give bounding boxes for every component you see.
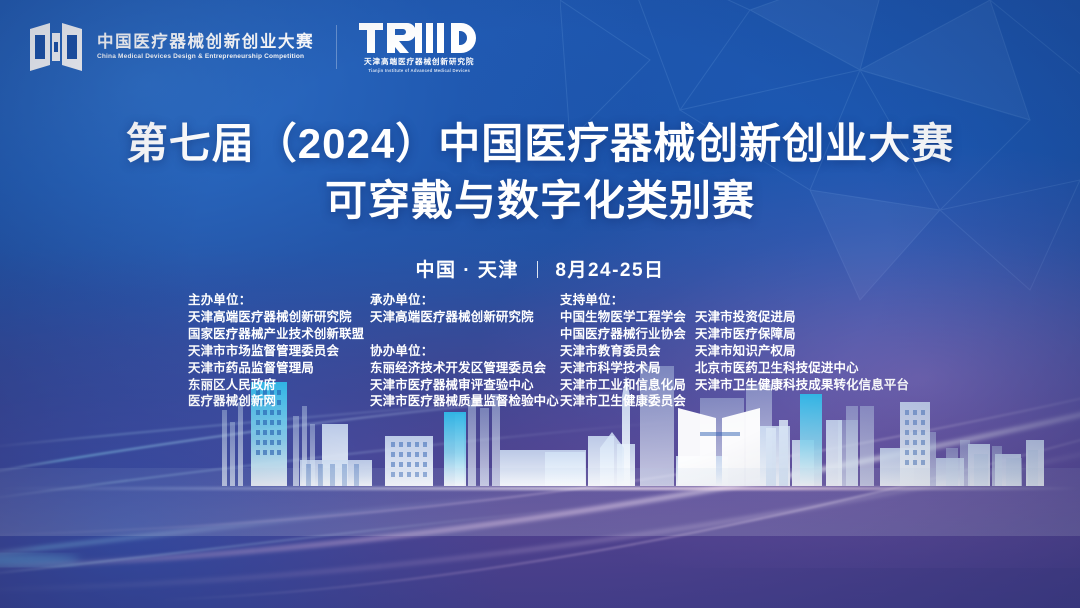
horizon-light-line <box>0 487 1080 490</box>
competition-logo-text: 中国医疗器械创新创业大赛 China Medical Devices Desig… <box>97 34 314 60</box>
co-organizer-item: 东丽经济技术开发区管理委员会 <box>370 360 560 377</box>
event-poster: 中国医疗器械创新创业大赛 China Medical Devices Desig… <box>0 0 1080 608</box>
competition-name-en: China Medical Devices Design & Entrepren… <box>97 53 319 60</box>
supporter-heading: 支持单位： <box>560 292 695 309</box>
supporter-item: 中国医疗器械行业协会 <box>560 326 695 343</box>
organizer-group-gap <box>370 326 560 343</box>
organizer-column-organizer: 承办单位： 天津高端医疗器械创新研究院 协办单位： 东丽经济技术开发区管理委员会… <box>370 292 560 410</box>
competition-logo: 中国医疗器械创新创业大赛 China Medical Devices Desig… <box>26 20 314 74</box>
poster-title: 第七届（2024）中国医疗器械创新创业大赛 可穿戴与数字化类别赛 <box>0 118 1080 226</box>
organizer-item: 天津高端医疗器械创新研究院 <box>370 309 560 326</box>
host-item: 天津市药品监督管理局 <box>188 360 370 377</box>
title-line-2: 可穿戴与数字化类别赛 <box>0 175 1080 226</box>
co-organizer-item: 天津市医疗器械审评查验中心 <box>370 377 560 394</box>
event-date: 8月24-25日 <box>555 260 664 281</box>
host-item: 天津高端医疗器械创新研究院 <box>188 309 370 326</box>
supporter-item: 天津市卫生健康委员会 <box>560 393 695 410</box>
host-item: 东丽区人民政府 <box>188 377 370 394</box>
open-door-book-logo-icon <box>26 20 86 74</box>
co-organizer-heading: 协办单位： <box>370 343 560 360</box>
supporter-item: 天津市教育委员会 <box>560 343 695 360</box>
host-item: 国家医疗器械产业技术创新联盟 <box>188 326 370 343</box>
supporter-item: 天津市医疗保障局 <box>695 326 900 343</box>
supporter-item: 天津市知识产权局 <box>695 343 900 360</box>
supporter-item: 天津市投资促进局 <box>695 309 900 326</box>
organizer-heading: 承办单位： <box>370 292 560 309</box>
supporter-right-spacer <box>695 292 900 309</box>
host-item: 天津市市场监督管理委员会 <box>188 343 370 360</box>
supporter-item: 中国生物医学工程学会 <box>560 309 695 326</box>
institute-name-en: Tianjin Institute of Advanced Medical De… <box>368 69 470 73</box>
event-location: 中国 · 天津 <box>415 260 518 281</box>
organizer-section: 主办单位： 天津高端医疗器械创新研究院 国家医疗器械产业技术创新联盟 天津市市场… <box>188 292 900 410</box>
supporter-item: 北京市医药卫生科技促进中心 <box>695 360 900 377</box>
supporter-list-right: 天津市投资促进局 天津市医疗保障局 天津市知识产权局 北京市医药卫生科技促进中心… <box>695 292 900 393</box>
subtitle-separator <box>537 261 538 278</box>
event-subtitle: 中国 · 天津 8月24-25日 <box>0 255 1080 282</box>
logo-divider <box>336 25 337 69</box>
competition-name-cn: 中国医疗器械创新创业大赛 <box>97 34 314 51</box>
host-item: 医疗器械创新网 <box>188 393 370 410</box>
title-line-1: 第七届（2024）中国医疗器械创新创业大赛 <box>0 118 1080 169</box>
supporter-item: 天津市科学技术局 <box>560 360 695 377</box>
organizer-column-host: 主办单位： 天津高端医疗器械创新研究院 国家医疗器械产业技术创新联盟 天津市市场… <box>188 292 370 410</box>
supporter-list-left: 支持单位： 中国生物医学工程学会 中国医疗器械行业协会 天津市教育委员会 天津市… <box>560 292 695 410</box>
trmd-wordmark-icon <box>359 21 479 55</box>
institute-name-cn: 天津高端医疗器械创新研究院 <box>364 58 474 66</box>
organizer-column-supporter: 支持单位： 中国生物医学工程学会 中国医疗器械行业协会 天津市教育委员会 天津市… <box>560 292 900 410</box>
host-heading: 主办单位： <box>188 292 370 309</box>
supporter-item: 天津市卫生健康科技成果转化信息平台 <box>695 377 900 394</box>
supporter-item: 天津市工业和信息化局 <box>560 377 695 394</box>
institute-logo: 天津高端医疗器械创新研究院 Tianjin Institute of Advan… <box>359 21 479 73</box>
header-logos: 中国医疗器械创新创业大赛 China Medical Devices Desig… <box>26 20 479 74</box>
co-organizer-item: 天津市医疗器械质量监督检验中心 <box>370 393 560 410</box>
